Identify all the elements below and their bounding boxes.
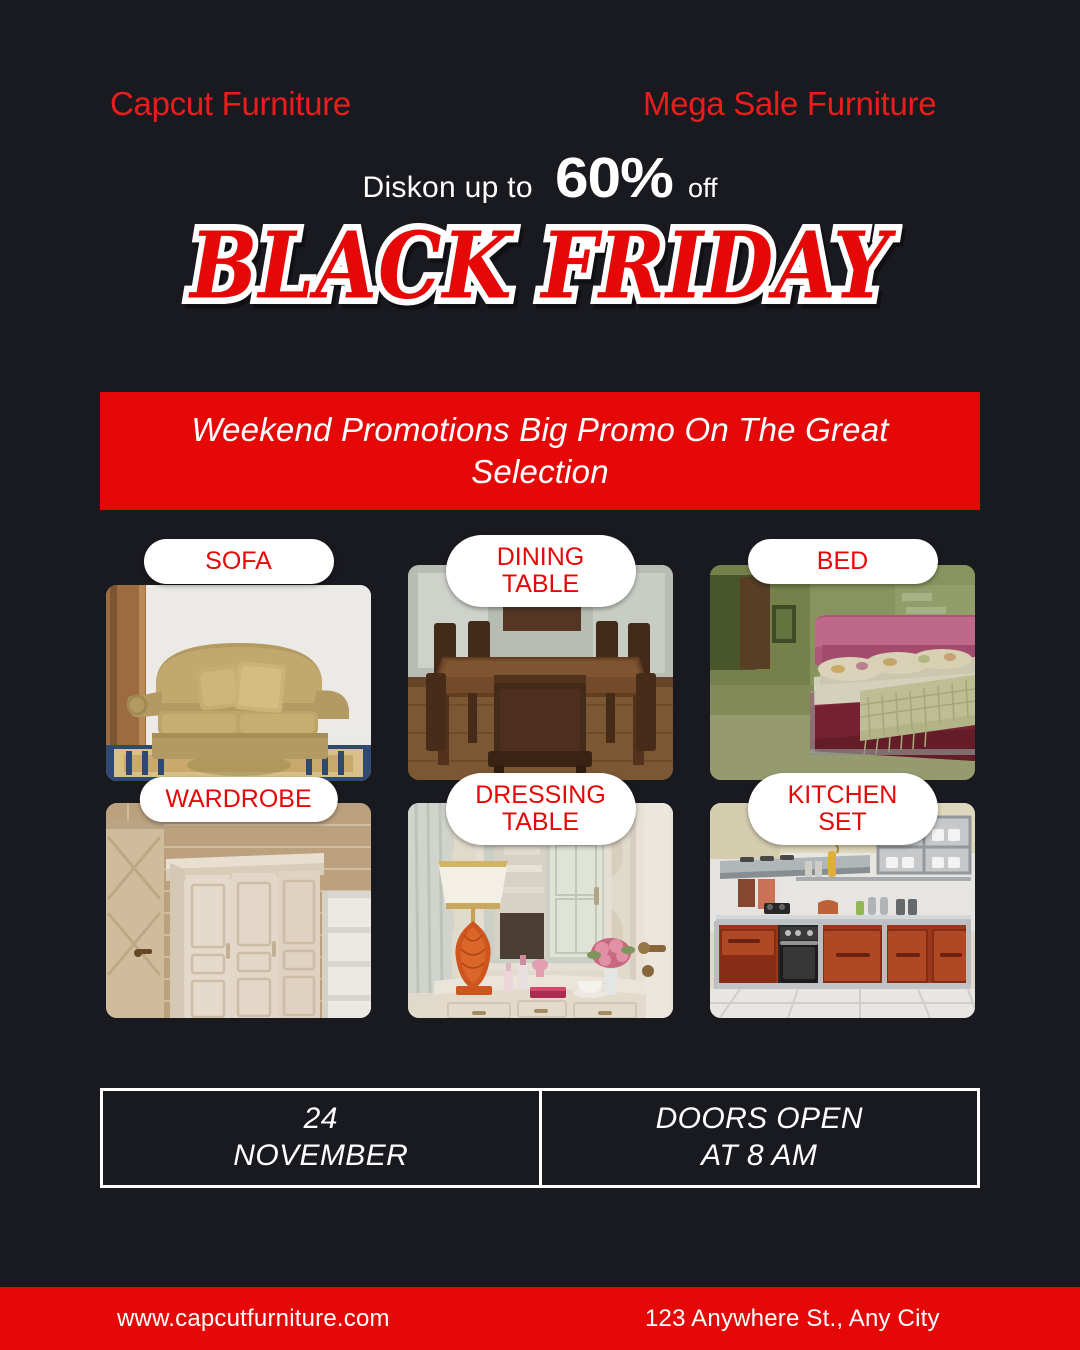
product-row-2: WARDROBE (106, 803, 974, 1018)
footer-bar: www.capcutfurniture.com 123 Anywhere St.… (0, 1287, 1080, 1350)
product-label-sofa: SOFA (144, 539, 334, 584)
product-label-kitchen-set: KITCHEN SET (748, 773, 938, 845)
discount-line: Diskon up to 60% off (0, 150, 1080, 207)
footer-website[interactable]: www.capcutfurniture.com (117, 1305, 390, 1333)
discount-value: 60% (555, 150, 673, 207)
product-card-bed[interactable]: BED (710, 565, 975, 781)
discount-prefix: Diskon up to (363, 171, 533, 205)
footer-address: 123 Anywhere St., Any City (645, 1305, 940, 1333)
product-card-dining-table[interactable]: DINING TABLE (408, 565, 673, 781)
page-title: BLACK FRIDAY (190, 221, 891, 313)
product-card-kitchen-set[interactable]: KITCHEN SET (710, 803, 975, 1018)
doors-open-box: DOORS OPEN AT 8 AM (542, 1091, 978, 1185)
sofa-photo (106, 585, 371, 781)
bed-photo (710, 565, 975, 780)
event-date-box: 24 NOVEMBER (103, 1091, 539, 1185)
promo-banner-text: Weekend Promotions Big Promo On The Grea… (100, 409, 980, 493)
brand-name-left: Capcut Furniture (110, 85, 351, 123)
event-info-frame: 24 NOVEMBER DOORS OPEN AT 8 AM (100, 1088, 980, 1188)
product-card-sofa[interactable]: SOFA (106, 565, 371, 781)
product-label-dining-table: DINING TABLE (446, 535, 636, 607)
product-label-dressing-table: DRESSING TABLE (446, 773, 636, 845)
black-friday-title-wrap: BLACK FRIDAY (0, 228, 1080, 338)
promo-banner: Weekend Promotions Big Promo On The Grea… (100, 392, 980, 510)
brand-name-right: Mega Sale Furniture (643, 85, 936, 123)
product-card-dressing-table[interactable]: DRESSING TABLE (408, 803, 673, 1018)
product-card-wardrobe[interactable]: WARDROBE (106, 803, 371, 1018)
product-label-bed: BED (748, 539, 938, 584)
header-brands: Capcut Furniture Mega Sale Furniture (0, 85, 1080, 135)
product-row-1: SOFA (106, 565, 974, 781)
discount-suffix: off (688, 173, 718, 204)
product-label-wardrobe: WARDROBE (139, 777, 337, 822)
product-grid: SOFA (106, 565, 974, 1040)
wardrobe-photo (106, 803, 371, 1018)
